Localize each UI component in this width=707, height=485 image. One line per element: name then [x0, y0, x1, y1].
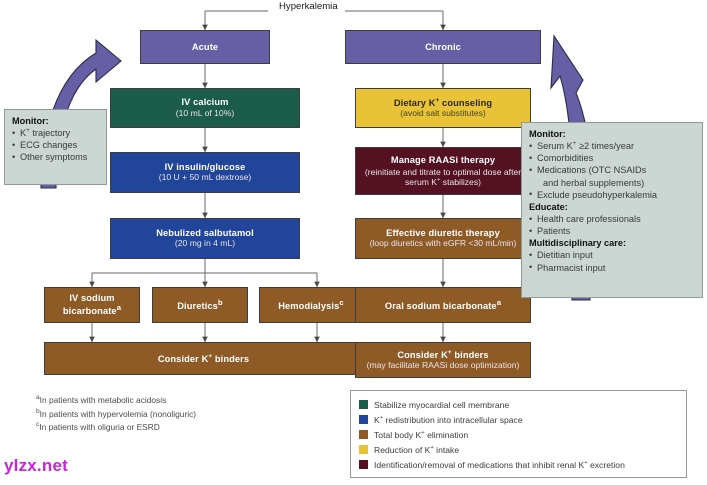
monitor-heading: Monitor: — [12, 115, 100, 127]
legend-row: K+ redistribution into intracellular spa… — [359, 412, 678, 427]
node-chronic-consider-binders[interactable]: Consider K+ binders (may facilitate RAAS… — [355, 342, 531, 378]
monitor-panel-right: Monitor: Serum K+ ≥2 times/year Comorbid… — [521, 122, 703, 298]
node-title: Chronic — [425, 42, 461, 53]
root-label: Hyperkalemia — [275, 1, 342, 12]
node-title: Hemodialysis — [278, 301, 339, 311]
node-acute[interactable]: Acute — [140, 30, 270, 64]
list-item-continuation: and herbal supplements) — [529, 177, 696, 189]
monitor-panel-left: Monitor: K+ trajectory ECG changes Other… — [4, 109, 107, 185]
node-subtitle: (loop diuretics with eGFR <30 mL/min) — [370, 239, 517, 249]
footnotes: aIn patients with metabolic acidosis bIn… — [36, 393, 196, 434]
node-title: Consider K+ binders — [397, 349, 488, 361]
footnote-row: bIn patients with hypervolemia (nonoligu… — [36, 407, 196, 421]
legend-row: Identification/removal of medications th… — [359, 457, 678, 472]
node-subtitle: (10 mL of 10%) — [176, 109, 234, 119]
monitor-list: Serum K+ ≥2 times/year Comorbidities Med… — [529, 140, 696, 201]
legend-label: Reduction of K+ intake — [374, 445, 459, 455]
legend-label: Stabilize myocardial cell membrane — [374, 400, 509, 410]
legend-swatch-brown — [359, 430, 368, 439]
multidisciplinary-list: Dietitian input Pharmacist input — [529, 249, 696, 273]
footnote-row: cIn patients with oliguria or ESRD — [36, 420, 196, 434]
list-item: Other symptoms — [12, 151, 100, 163]
legend-label: Total body K+ elimination — [374, 430, 468, 440]
footnote-text: In patients with hypervolemia (nonoligur… — [40, 409, 196, 419]
footnote-text: In patients with metabolic acidosis — [40, 395, 167, 405]
footnote-marker: b — [218, 298, 223, 307]
legend-row: Reduction of K+ intake — [359, 442, 678, 457]
node-nebulized-salbutamol[interactable]: Nebulized salbutamol (20 mg in 4 mL) — [110, 218, 300, 259]
list-item: Pharmacist input — [529, 262, 696, 274]
legend-row: Stabilize myocardial cell membrane — [359, 397, 678, 412]
legend-swatch-green — [359, 400, 368, 409]
flowchart-canvas: Hyperkalemia Acute Chronic IV calcium (1… — [0, 0, 707, 485]
node-title-text: Consider K+ binders — [158, 354, 249, 364]
legend-swatch-blue — [359, 415, 368, 424]
list-item: Dietitian input — [529, 249, 696, 261]
list-item: Serum K+ ≥2 times/year — [529, 140, 696, 152]
legend-label: Identification/removal of medications th… — [374, 460, 625, 470]
footnote-marker: a — [117, 303, 121, 312]
list-item: Exclude pseudohyperkalemia — [529, 189, 696, 201]
node-subtitle: (reinitiate and titrate to optimal dose … — [360, 167, 526, 188]
node-manage-raasi-therapy[interactable]: Manage RAASi therapy (reinitiate and tit… — [355, 147, 531, 195]
legend-swatch-yellow — [359, 445, 368, 454]
node-dietary-k-counseling[interactable]: Dietary K+ counseling (avoid salt substi… — [355, 88, 531, 128]
node-subtitle: (may facilitate RAASi dose optimization) — [367, 361, 520, 371]
node-iv-insulin-glucose[interactable]: IV insulin/glucose (10 U + 50 mL dextros… — [110, 152, 300, 193]
node-title: Diuretics — [177, 301, 218, 311]
node-title: IV calcium — [182, 97, 229, 108]
list-item: Medications (OTC NSAIDs — [529, 164, 696, 176]
node-title: Effective diuretic therapy — [386, 228, 500, 239]
monitor-list: K+ trajectory ECG changes Other symptoms — [12, 127, 100, 163]
footnote-marker: c — [339, 298, 343, 307]
legend-label: K+ redistribution into intracellular spa… — [374, 415, 523, 425]
footnote-text: In patients with oliguria or ESRD — [39, 422, 160, 432]
footnote-marker: a — [497, 298, 501, 307]
node-iv-calcium[interactable]: IV calcium (10 mL of 10%) — [110, 88, 300, 128]
legend-row: Total body K+ elimination — [359, 427, 678, 442]
node-chronic[interactable]: Chronic — [345, 30, 541, 64]
node-title: Acute — [192, 42, 218, 53]
multidisciplinary-heading: Multidisciplinary care: — [529, 237, 696, 249]
node-acute-consider-binders[interactable]: Consider K+ binders — [44, 342, 363, 375]
educate-list: Health care professionals Patients — [529, 213, 696, 237]
node-title: Oral sodium bicarbonate — [385, 301, 497, 311]
node-subtitle: (10 U + 50 mL dextrose) — [159, 173, 252, 183]
node-title: IV insulin/glucose — [165, 162, 246, 173]
node-diuretics[interactable]: Diureticsb — [152, 287, 248, 323]
node-iv-sodium-bicarbonate[interactable]: IV sodium bicarbonatea — [44, 287, 140, 323]
node-oral-sodium-bicarbonate[interactable]: Oral sodium bicarbonatea — [355, 287, 531, 323]
monitor-heading: Monitor: — [529, 128, 696, 140]
list-item: Health care professionals — [529, 213, 696, 225]
list-item: Patients — [529, 225, 696, 237]
node-title: Manage RAASi therapy — [391, 155, 495, 166]
watermark: ylzx.net — [4, 456, 68, 476]
footnote-row: aIn patients with metabolic acidosis — [36, 393, 196, 407]
legend-swatch-maroon — [359, 460, 368, 469]
node-title: IV sodium bicarbonate — [63, 293, 117, 316]
node-subtitle: (avoid salt substitutes) — [400, 109, 486, 119]
node-title: Dietary K+ counseling — [394, 97, 492, 109]
node-title: Nebulized salbutamol — [156, 228, 254, 239]
node-effective-diuretic-therapy[interactable]: Effective diuretic therapy (loop diureti… — [355, 218, 531, 259]
node-hemodialysis[interactable]: Hemodialysisc — [259, 287, 363, 323]
list-item: Comorbidities — [529, 152, 696, 164]
node-title: Consider K+ binders — [158, 353, 249, 365]
list-item: K+ trajectory — [12, 127, 100, 139]
legend: Stabilize myocardial cell membrane K+ re… — [350, 390, 687, 478]
list-item: ECG changes — [12, 139, 100, 151]
educate-heading: Educate: — [529, 201, 696, 213]
node-subtitle: (20 mg in 4 mL) — [175, 239, 235, 249]
